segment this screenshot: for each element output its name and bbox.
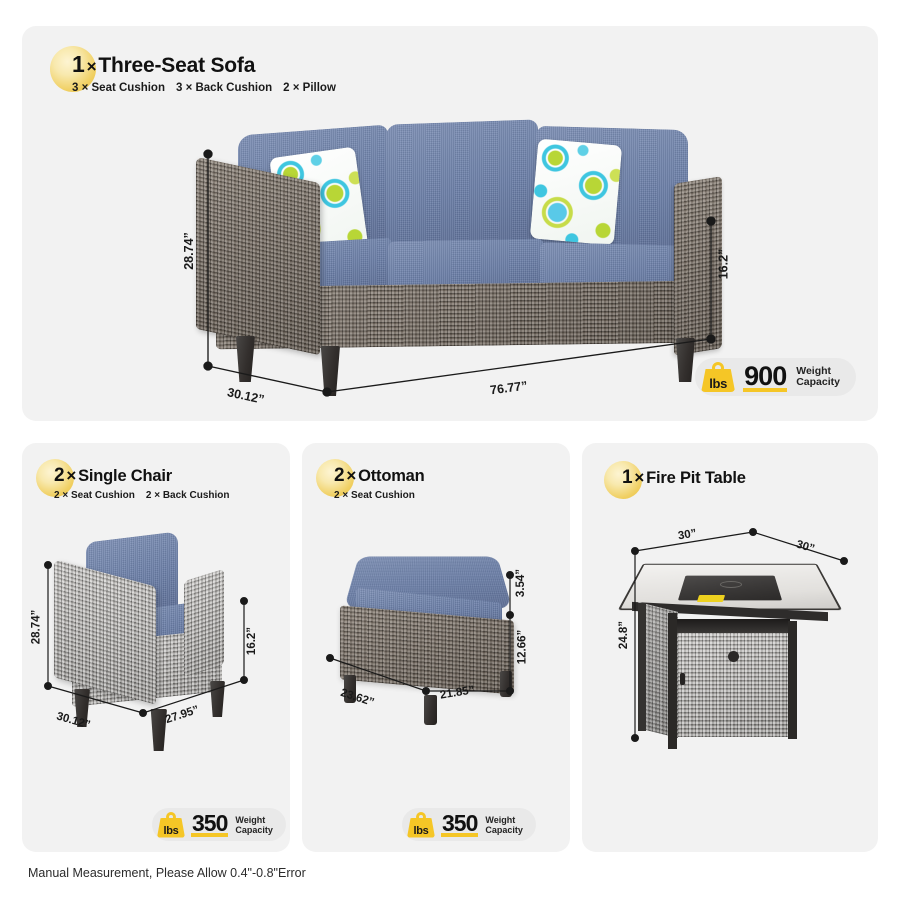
firepit-post: [668, 613, 677, 749]
chair-weight-capacity-badge: lbs 350 Weight Capacity: [152, 808, 286, 841]
ottoman-body: [340, 605, 514, 694]
multiply-icon: ×: [344, 466, 358, 485]
chair-header: 2×Single Chair 2 × Seat Cushion2 × Back …: [54, 464, 241, 501]
firepit-warning-sticker: [697, 595, 725, 602]
firepit-qty: 1: [622, 467, 632, 488]
multiply-icon: ×: [632, 468, 646, 487]
weight-unit: lbs: [701, 376, 735, 391]
ottoman-qty: 2: [334, 465, 344, 486]
sofa-leg: [676, 338, 695, 382]
sofa-weight-capacity-badge: lbs 900 Weight Capacity: [695, 358, 856, 396]
firepit-height-label: 24.8”: [618, 621, 630, 649]
sofa-capacity-value: 900: [742, 363, 788, 392]
sofa-illustration: [190, 114, 720, 399]
capacity-line-1: Weight: [485, 815, 523, 825]
chair-seat-height-label: 16.2”: [246, 627, 258, 655]
sofa-right-arm: [674, 176, 722, 356]
chair-right-arm: [184, 569, 224, 677]
sofa-leg: [320, 346, 340, 396]
chair-parts: 2 × Seat Cushion2 × Back Cushion: [54, 490, 241, 501]
ottoman-title: 2×Ottoman: [334, 464, 426, 488]
ottoman-header: 2×Ottoman 2 × Seat Cushion: [334, 464, 426, 501]
chair-part: 2 × Back Cushion: [146, 490, 230, 501]
sofa-part: 2 × Pillow: [283, 82, 336, 94]
ottoman-illustration: [328, 549, 538, 739]
ottoman-part: 2 × Seat Cushion: [334, 490, 415, 501]
firepit-body-front: [674, 625, 792, 737]
ottoman-weight-capacity-badge: lbs 350 Weight Capacity: [402, 808, 536, 841]
chair-capacity-value: 350: [190, 812, 229, 837]
sofa-parts: 3 × Seat Cushion3 × Back Cushion2 × Pill…: [72, 82, 347, 94]
sofa-part: 3 × Seat Cushion: [72, 82, 165, 94]
sofa-capacity-label: Weight Capacity: [796, 366, 840, 389]
sofa-seat-height-label: 16.2”: [716, 249, 730, 280]
firepit-door-handle: [680, 673, 685, 685]
ottoman-leg: [500, 671, 512, 697]
capacity-line-2: Capacity: [796, 377, 840, 389]
weight-icon: lbs: [701, 362, 735, 392]
product-card-firepit: 30” 30” 24.8”: [582, 443, 878, 852]
firepit-interior-gap: [676, 619, 790, 633]
sofa-name: Three-Seat Sofa: [98, 54, 255, 77]
weight-unit: lbs: [407, 825, 435, 837]
weight-icon: lbs: [157, 812, 185, 838]
ottoman-leg: [424, 695, 437, 725]
firepit-control-knob: [728, 651, 739, 662]
product-card-chair: 28.74” 30.12” 27.95” 16.2”: [22, 443, 290, 852]
multiply-icon: ×: [64, 466, 78, 485]
ottoman-capacity-value: 350: [440, 812, 479, 837]
ottoman-parts: 2 × Seat Cushion: [334, 490, 426, 501]
chair-leg: [210, 681, 225, 717]
sofa-title: 1×Three-Seat Sofa: [72, 52, 347, 79]
measurement-disclaimer: Manual Measurement, Please Allow 0.4"-0.…: [28, 866, 306, 880]
chair-illustration: [52, 533, 260, 773]
sofa-throw-pillow: [530, 139, 622, 246]
chair-name: Single Chair: [78, 467, 172, 485]
weight-unit: lbs: [157, 825, 185, 837]
capacity-line-1: Weight: [235, 815, 273, 825]
firepit-illustration: [624, 533, 854, 753]
sofa-header: 1×Three-Seat Sofa 3 × Seat Cushion3 × Ba…: [72, 52, 347, 94]
ottoman-cushion-height-label: 3.54”: [515, 569, 527, 597]
firepit-post: [788, 621, 797, 739]
ottoman-height-label: 12.66”: [516, 630, 528, 665]
firepit-burner-ring: [720, 581, 742, 588]
sofa-leg: [236, 336, 255, 382]
firepit-title: 1×Fire Pit Table: [622, 466, 746, 490]
firepit-post: [638, 603, 646, 731]
firepit-name: Fire Pit Table: [646, 469, 746, 487]
chair-capacity-label: Weight Capacity: [235, 815, 273, 835]
chair-title: 2×Single Chair: [54, 464, 241, 488]
sofa-part: 3 × Back Cushion: [176, 82, 272, 94]
ottoman-name: Ottoman: [358, 467, 424, 485]
chair-height-label: 28.74”: [30, 610, 42, 645]
sofa-left-arm: [196, 157, 320, 355]
weight-icon: lbs: [407, 812, 435, 838]
sofa-back-cushion: [386, 119, 538, 246]
chair-part: 2 × Seat Cushion: [54, 490, 135, 501]
capacity-line-2: Capacity: [235, 825, 273, 835]
ottoman-capacity-label: Weight Capacity: [485, 815, 523, 835]
firepit-header: 1×Fire Pit Table: [622, 466, 746, 490]
capacity-line-2: Capacity: [485, 825, 523, 835]
sofa-qty: 1: [72, 51, 85, 77]
chair-qty: 2: [54, 465, 64, 486]
product-card-ottoman: 3.54” 12.66” 23.62” 21.85”: [302, 443, 570, 852]
sofa-height-label: 28.74”: [182, 232, 196, 270]
multiply-icon: ×: [85, 57, 99, 76]
